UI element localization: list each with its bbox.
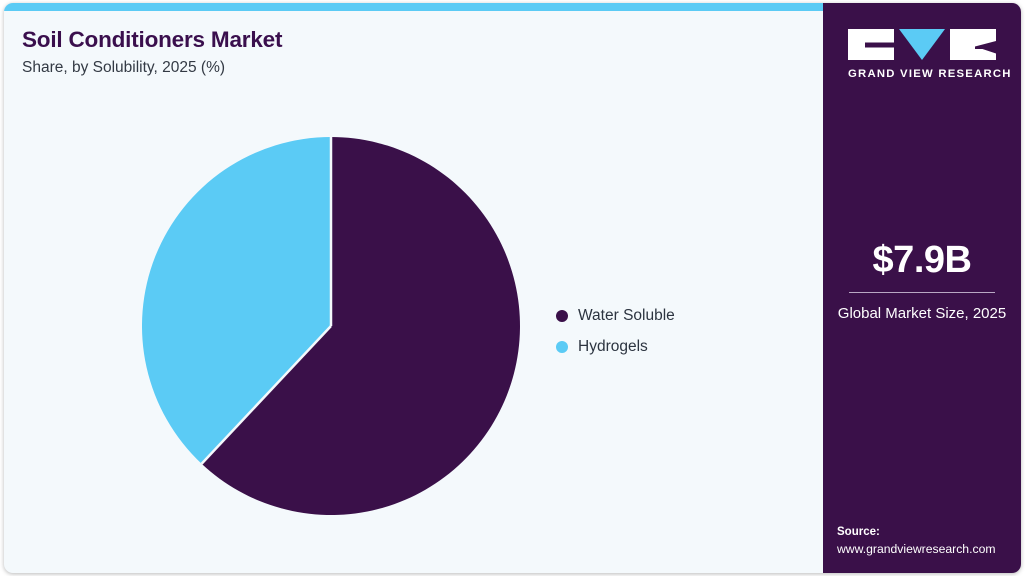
- legend-label: Hydrogels: [578, 338, 648, 356]
- top-accent-bar: [4, 3, 823, 11]
- chart-heading-group: Soil Conditioners Market Share, by Solub…: [22, 27, 622, 77]
- market-size-caption: Global Market Size, 2025: [837, 304, 1007, 324]
- page-title: Soil Conditioners Market: [22, 27, 622, 53]
- chart-legend: Water Soluble Hydrogels: [556, 300, 675, 362]
- brand-logo: GRAND VIEW RESEARCH: [848, 29, 996, 80]
- logo-marks: [848, 29, 996, 61]
- legend-item-hydrogels[interactable]: Hydrogels: [556, 331, 675, 362]
- letter-g-block-icon: [848, 29, 894, 60]
- chart-card: Soil Conditioners Market Share, by Solub…: [4, 3, 1021, 573]
- bullet-dot-icon: [556, 310, 568, 322]
- market-size-value: $7.9B: [837, 241, 1007, 279]
- source-url[interactable]: www.grandviewresearch.com: [837, 541, 1013, 557]
- triangle-v-icon: [899, 29, 945, 60]
- legend-item-water-soluble[interactable]: Water Soluble: [556, 300, 675, 331]
- pie-chart: [142, 137, 520, 515]
- page-subtitle: Share, by Solubility, 2025 (%): [22, 59, 622, 78]
- logo-wordmark: GRAND VIEW RESEARCH: [848, 68, 996, 80]
- legend-label: Water Soluble: [578, 307, 675, 325]
- divider: [849, 292, 995, 293]
- market-size-callout: $7.9B Global Market Size, 2025: [823, 241, 1021, 324]
- bullet-dot-icon: [556, 341, 568, 353]
- side-panel: GRAND VIEW RESEARCH $7.9B Global Market …: [823, 3, 1021, 573]
- source-block: Source: www.grandviewresearch.com: [837, 524, 1013, 557]
- source-label: Source:: [837, 524, 1013, 541]
- letter-r-block-icon: [950, 29, 996, 60]
